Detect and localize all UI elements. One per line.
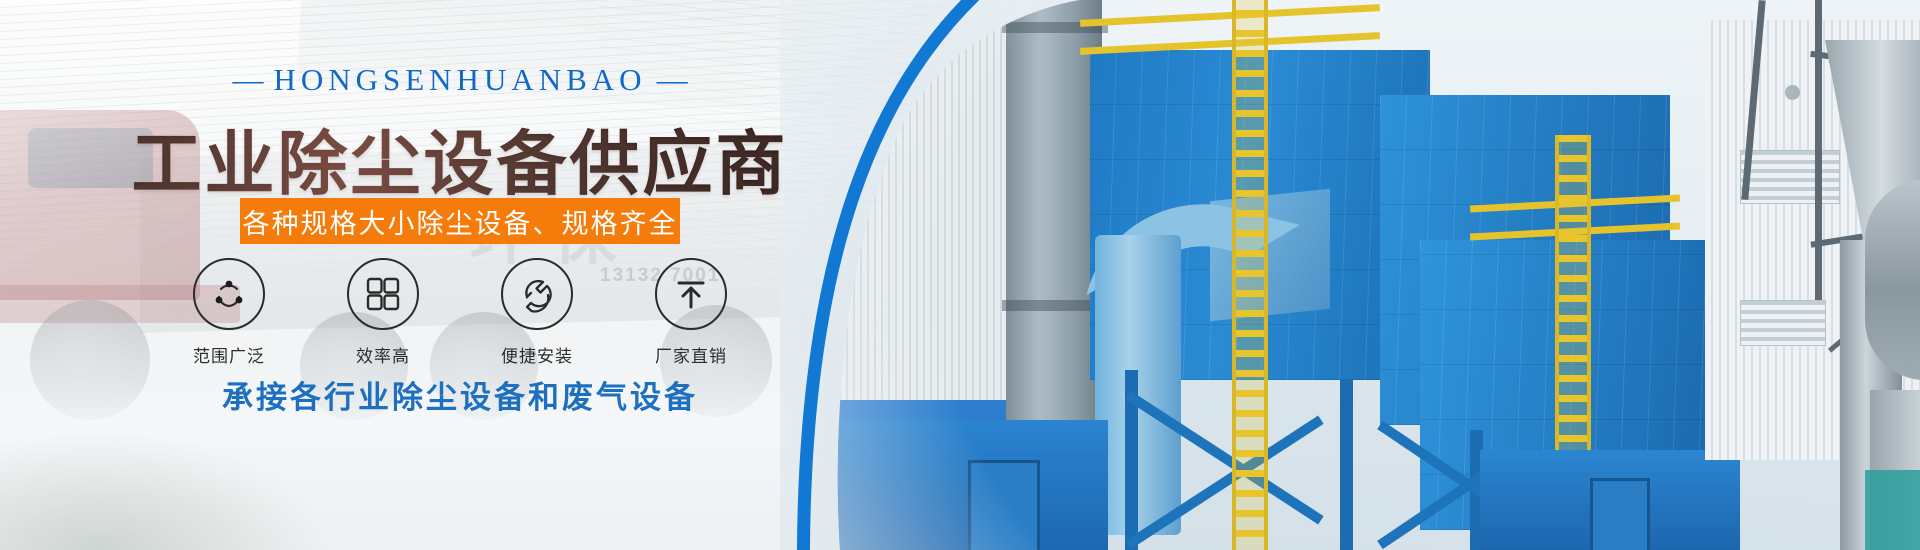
brand-name: HONGSENHUANBAO	[273, 62, 646, 97]
network-nodes-icon	[193, 258, 265, 330]
louver-vent	[1740, 300, 1826, 346]
page-subtitle: 承接各行业除尘设备和废气设备	[0, 372, 920, 417]
dash-left: —	[222, 62, 273, 97]
feature-item-range[interactable]: 范围广泛	[183, 258, 275, 367]
dash-right: —	[647, 62, 698, 97]
page-title: 工业除尘设备供应商	[0, 108, 920, 209]
highlight-bar: 各种规格大小除尘设备、规格齐全	[240, 198, 680, 244]
caged-ladder	[1232, 0, 1268, 550]
feature-label: 便捷安装	[491, 342, 583, 367]
feature-label: 范围广泛	[183, 342, 275, 367]
feature-label: 厂家直销	[645, 342, 737, 367]
exhaust-stack	[1006, 0, 1102, 490]
equipment-base	[1480, 450, 1740, 550]
wrench-icon	[501, 258, 573, 330]
green-tank	[1865, 470, 1920, 550]
highlight-bar-text: 各种规格大小除尘设备、规格齐全	[243, 202, 678, 241]
support-leg	[1340, 380, 1353, 550]
feature-item-factory-direct[interactable]: 厂家直销	[645, 258, 737, 367]
feature-item-efficiency[interactable]: 效率高	[337, 258, 429, 367]
large-duct	[1865, 180, 1920, 380]
wall-port	[1785, 85, 1800, 100]
brand-eyebrow: —HONGSENHUANBAO—	[0, 62, 920, 98]
promo-banner: 环保 13132 7001	[0, 0, 1920, 550]
up-arrow-icon	[655, 258, 727, 330]
access-door	[1590, 478, 1650, 550]
feature-list: 范围广泛 效率高	[0, 258, 920, 367]
grid-squares-icon	[347, 258, 419, 330]
feature-item-install[interactable]: 便捷安装	[491, 258, 583, 367]
steel-truss	[1815, 0, 1822, 300]
banner-content: —HONGSENHUANBAO— 工业除尘设备供应商 各种规格大小除尘设备、规格…	[0, 0, 1000, 550]
louver-vent	[1740, 150, 1840, 204]
feature-label: 效率高	[337, 342, 429, 367]
